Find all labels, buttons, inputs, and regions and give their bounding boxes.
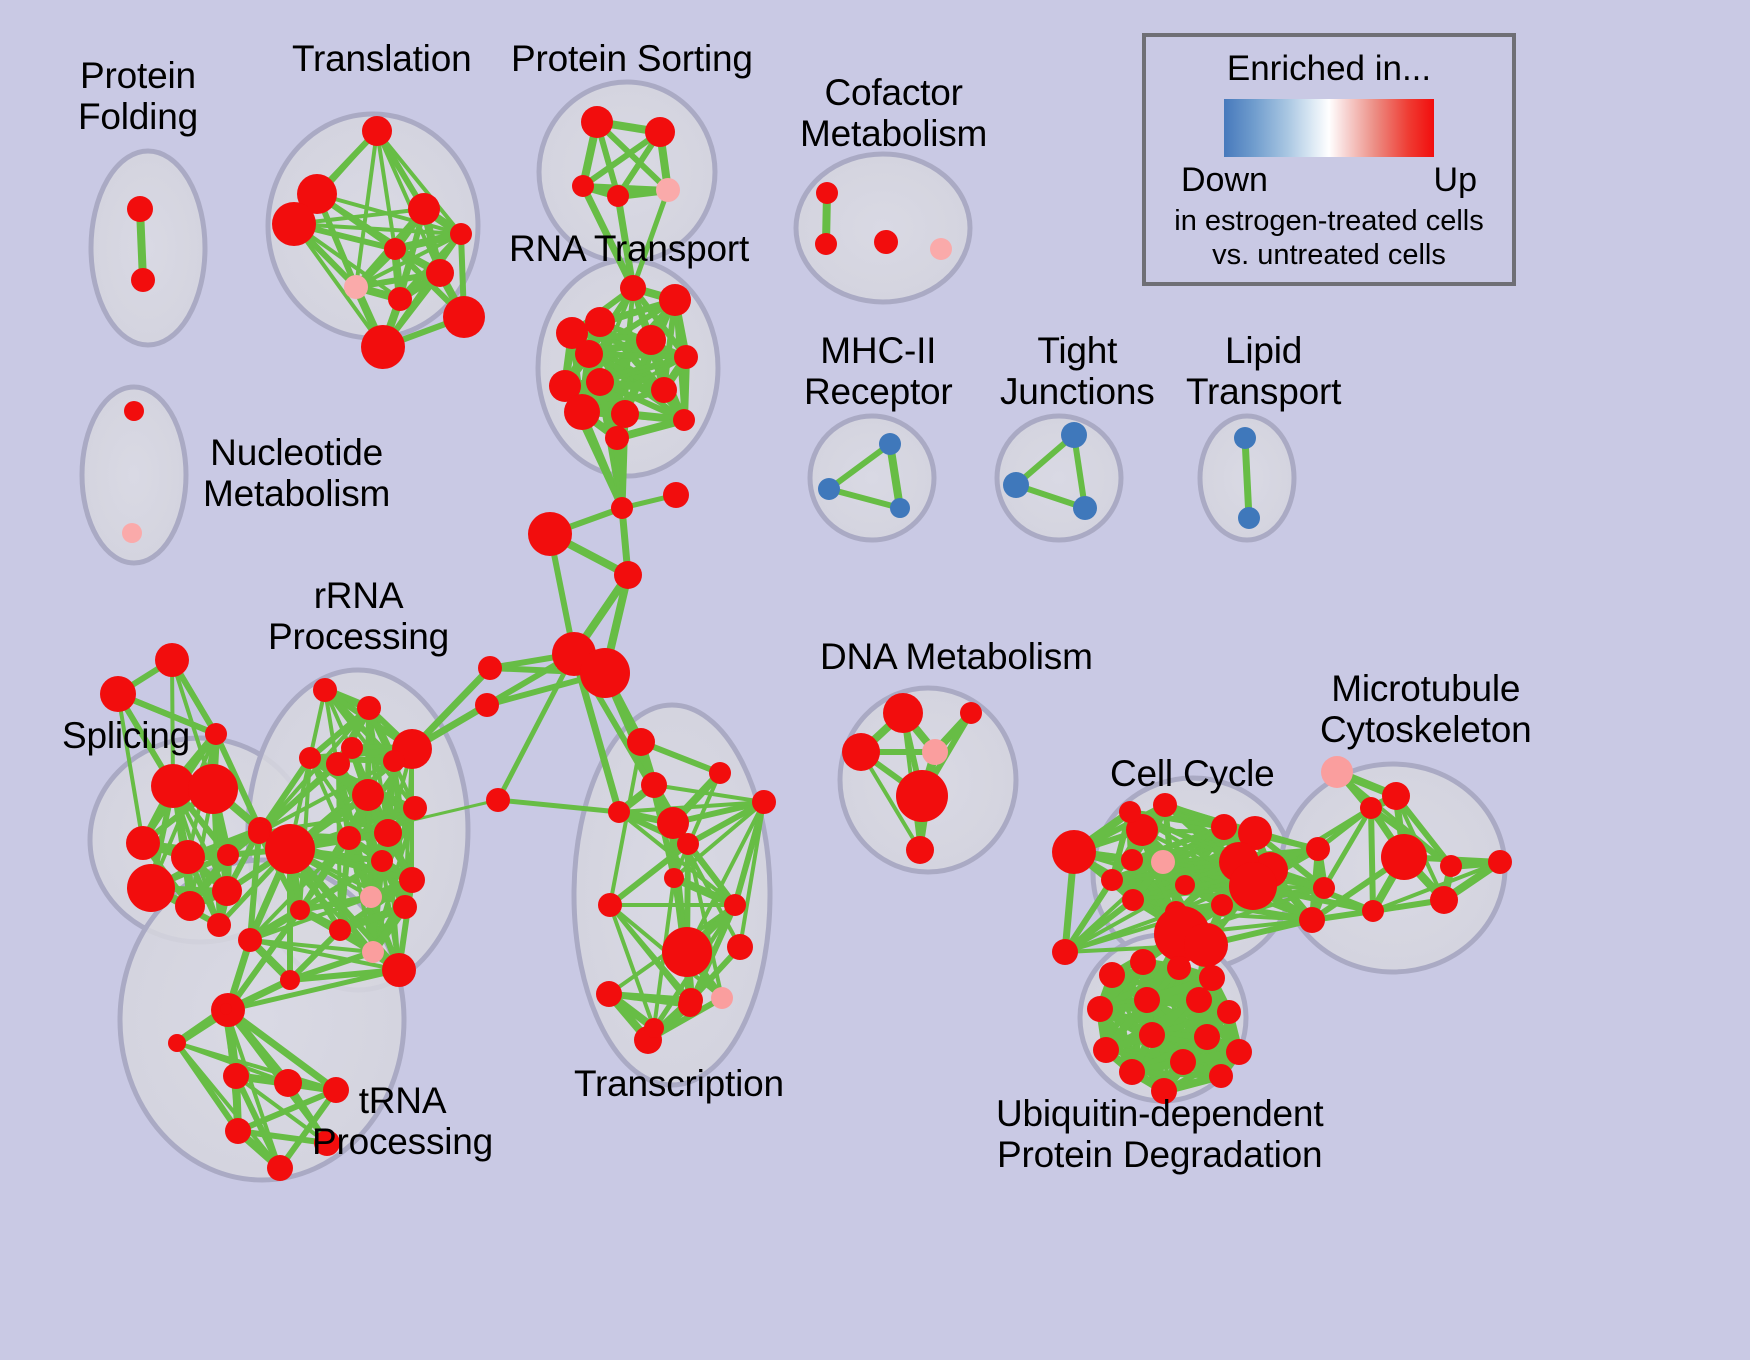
network-node[interactable] bbox=[393, 895, 417, 919]
cluster-label-trna-processing: tRNA Processing bbox=[312, 1080, 493, 1163]
network-node[interactable] bbox=[274, 1069, 302, 1097]
network-node[interactable] bbox=[659, 284, 691, 316]
network-node[interactable] bbox=[1184, 923, 1228, 967]
network-node[interactable] bbox=[724, 894, 746, 916]
network-node[interactable] bbox=[727, 934, 753, 960]
network-node[interactable] bbox=[677, 833, 699, 855]
network-node[interactable] bbox=[207, 913, 231, 937]
network-node[interactable] bbox=[124, 401, 144, 421]
network-node[interactable] bbox=[575, 340, 603, 368]
network-node[interactable] bbox=[709, 762, 731, 784]
network-node[interactable] bbox=[426, 259, 454, 287]
network-node[interactable] bbox=[564, 394, 600, 430]
network-node[interactable] bbox=[1175, 875, 1195, 895]
network-figure: Protein FoldingTranslationProtein Sortin… bbox=[0, 0, 1750, 1360]
network-node[interactable] bbox=[1151, 850, 1175, 874]
network-edge bbox=[1371, 808, 1373, 911]
network-node[interactable] bbox=[890, 498, 910, 518]
network-node[interactable] bbox=[126, 826, 160, 860]
network-node[interactable] bbox=[1488, 850, 1512, 874]
network-node[interactable] bbox=[450, 223, 472, 245]
network-node[interactable] bbox=[384, 238, 406, 260]
legend-title: Enriched in... bbox=[1227, 49, 1431, 89]
network-node[interactable] bbox=[608, 801, 630, 823]
network-node[interactable] bbox=[1199, 965, 1225, 991]
network-node[interactable] bbox=[220, 1003, 232, 1015]
network-node[interactable] bbox=[357, 696, 381, 720]
network-node[interactable] bbox=[1234, 427, 1256, 449]
network-node[interactable] bbox=[382, 953, 416, 987]
network-node[interactable] bbox=[443, 296, 485, 338]
network-node[interactable] bbox=[265, 824, 315, 874]
network-node[interactable] bbox=[818, 478, 840, 500]
network-node[interactable] bbox=[1194, 1024, 1220, 1050]
network-node[interactable] bbox=[627, 728, 655, 756]
network-node[interactable] bbox=[816, 182, 838, 204]
network-node[interactable] bbox=[280, 970, 300, 990]
cluster-label-tight-junctions: Tight Junctions bbox=[1000, 330, 1155, 413]
network-node[interactable] bbox=[1101, 869, 1123, 891]
network-node[interactable] bbox=[1321, 756, 1353, 788]
network-node[interactable] bbox=[620, 275, 646, 301]
network-node[interactable] bbox=[188, 764, 238, 814]
network-node[interactable] bbox=[362, 941, 384, 963]
network-node[interactable] bbox=[1381, 834, 1427, 880]
network-node[interactable] bbox=[383, 750, 405, 772]
network-node[interactable] bbox=[815, 233, 837, 255]
network-node[interactable] bbox=[1099, 962, 1125, 988]
network-node[interactable] bbox=[272, 202, 316, 246]
network-node[interactable] bbox=[1430, 886, 1458, 914]
network-node[interactable] bbox=[679, 988, 703, 1012]
network-node[interactable] bbox=[478, 656, 502, 680]
network-node[interactable] bbox=[168, 1034, 186, 1052]
network-node[interactable] bbox=[1121, 849, 1143, 871]
cluster-label-lipid-transport: Lipid Transport bbox=[1186, 330, 1341, 413]
cluster-ellipse-protein-folding bbox=[91, 151, 205, 345]
network-node[interactable] bbox=[663, 482, 689, 508]
network-node[interactable] bbox=[596, 981, 622, 1007]
network-edge bbox=[1245, 438, 1249, 518]
network-node[interactable] bbox=[403, 796, 427, 820]
cluster-label-protein-folding: Protein Folding bbox=[78, 55, 198, 138]
network-node[interactable] bbox=[1061, 422, 1087, 448]
network-node[interactable] bbox=[842, 733, 880, 771]
network-node[interactable] bbox=[1229, 862, 1277, 910]
network-node[interactable] bbox=[175, 891, 205, 921]
network-node[interactable] bbox=[645, 117, 675, 147]
cluster-ellipse-cofactor-metabolism bbox=[796, 154, 970, 302]
network-node[interactable] bbox=[1238, 507, 1260, 529]
network-node[interactable] bbox=[352, 779, 384, 811]
network-node[interactable] bbox=[879, 433, 901, 455]
cluster-label-translation: Translation bbox=[292, 38, 471, 79]
network-node[interactable] bbox=[1382, 782, 1410, 810]
network-node[interactable] bbox=[326, 752, 350, 776]
network-node[interactable] bbox=[930, 238, 952, 260]
network-node[interactable] bbox=[1087, 996, 1113, 1022]
legend-subtitle-line2: vs. untreated cells bbox=[1174, 238, 1484, 272]
network-node[interactable] bbox=[1119, 1059, 1145, 1085]
network-node[interactable] bbox=[1153, 793, 1177, 817]
network-node[interactable] bbox=[374, 819, 402, 847]
network-node[interactable] bbox=[896, 770, 948, 822]
network-node[interactable] bbox=[248, 822, 270, 844]
network-node[interactable] bbox=[673, 409, 695, 431]
network-node[interactable] bbox=[572, 175, 594, 197]
network-node[interactable] bbox=[371, 850, 393, 872]
network-node[interactable] bbox=[1134, 987, 1160, 1013]
network-node[interactable] bbox=[212, 876, 242, 906]
network-node[interactable] bbox=[337, 826, 361, 850]
network-node[interactable] bbox=[1093, 1037, 1119, 1063]
network-node[interactable] bbox=[1211, 814, 1237, 840]
network-node[interactable] bbox=[874, 230, 898, 254]
network-node[interactable] bbox=[607, 185, 629, 207]
cluster-label-splicing: Splicing bbox=[62, 715, 190, 756]
network-node[interactable] bbox=[1209, 1064, 1233, 1088]
network-node[interactable] bbox=[361, 325, 405, 369]
network-node[interactable] bbox=[906, 836, 934, 864]
network-node[interactable] bbox=[960, 702, 982, 724]
network-node[interactable] bbox=[711, 987, 733, 1009]
network-node[interactable] bbox=[362, 116, 392, 146]
cluster-label-cofactor-metabolism: Cofactor Metabolism bbox=[800, 72, 987, 155]
network-node[interactable] bbox=[605, 426, 629, 450]
network-node[interactable] bbox=[217, 844, 239, 866]
network-node[interactable] bbox=[656, 178, 680, 202]
network-node[interactable] bbox=[360, 886, 382, 908]
network-node[interactable] bbox=[752, 790, 776, 814]
cluster-label-nucleotide-metabolism: Nucleotide Metabolism bbox=[203, 432, 390, 515]
legend-panel: Enriched in... Down Up in estrogen-treat… bbox=[1142, 33, 1516, 286]
network-node[interactable] bbox=[1360, 797, 1382, 819]
network-node[interactable] bbox=[1003, 472, 1029, 498]
network-node[interactable] bbox=[585, 307, 615, 337]
network-node[interactable] bbox=[1170, 1049, 1196, 1075]
network-node[interactable] bbox=[223, 1063, 249, 1089]
network-node[interactable] bbox=[122, 523, 142, 543]
network-node[interactable] bbox=[614, 561, 642, 589]
network-node[interactable] bbox=[581, 106, 613, 138]
network-node[interactable] bbox=[238, 928, 262, 952]
network-node[interactable] bbox=[922, 739, 948, 765]
network-node[interactable] bbox=[388, 287, 412, 311]
network-node[interactable] bbox=[636, 325, 666, 355]
network-node[interactable] bbox=[155, 643, 189, 677]
cluster-label-protein-sorting: Protein Sorting bbox=[511, 38, 753, 79]
network-node[interactable] bbox=[644, 1018, 664, 1038]
network-node[interactable] bbox=[1306, 837, 1330, 861]
network-node[interactable] bbox=[598, 893, 622, 917]
network-node[interactable] bbox=[611, 400, 639, 428]
network-node[interactable] bbox=[267, 1155, 293, 1181]
network-node[interactable] bbox=[1313, 877, 1335, 899]
network-node[interactable] bbox=[299, 747, 321, 769]
legend-subtitle-line1: in estrogen-treated cells bbox=[1174, 204, 1484, 238]
network-node[interactable] bbox=[127, 196, 153, 222]
network-node[interactable] bbox=[1217, 1000, 1241, 1024]
network-node[interactable] bbox=[486, 788, 510, 812]
network-node[interactable] bbox=[528, 512, 572, 556]
network-node[interactable] bbox=[475, 693, 499, 717]
network-node[interactable] bbox=[1130, 949, 1156, 975]
cluster-label-mhc-ii-receptor: MHC-II Receptor bbox=[804, 330, 953, 413]
cluster-label-dna-metabolism: DNA Metabolism bbox=[820, 636, 1093, 677]
network-node[interactable] bbox=[1073, 496, 1097, 520]
network-node[interactable] bbox=[100, 676, 136, 712]
cluster-label-rna-transport: RNA Transport bbox=[509, 228, 749, 269]
cluster-label-cell-cycle: Cell Cycle bbox=[1110, 753, 1275, 794]
network-node[interactable] bbox=[1052, 830, 1096, 874]
network-node[interactable] bbox=[1139, 1022, 1165, 1048]
network-node[interactable] bbox=[399, 867, 425, 893]
network-edge bbox=[589, 354, 686, 357]
network-node[interactable] bbox=[1119, 801, 1141, 823]
network-node[interactable] bbox=[408, 193, 440, 225]
network-node[interactable] bbox=[1226, 1039, 1252, 1065]
network-node[interactable] bbox=[313, 678, 337, 702]
cluster-label-ubiquitin-protein-degradation: Ubiquitin-dependent Protein Degradation bbox=[996, 1093, 1323, 1176]
network-node[interactable] bbox=[1186, 987, 1212, 1013]
network-node[interactable] bbox=[674, 345, 698, 369]
legend-low-label: Down bbox=[1181, 161, 1268, 200]
cluster-label-transcription: Transcription bbox=[574, 1063, 784, 1104]
network-node[interactable] bbox=[1167, 956, 1191, 980]
network-node[interactable] bbox=[171, 840, 205, 874]
network-node[interactable] bbox=[344, 275, 368, 299]
network-node[interactable] bbox=[1211, 894, 1233, 916]
network-node[interactable] bbox=[1299, 907, 1325, 933]
network-node[interactable] bbox=[611, 497, 633, 519]
network-node[interactable] bbox=[883, 693, 923, 733]
network-node[interactable] bbox=[1122, 889, 1144, 911]
network-node[interactable] bbox=[290, 900, 310, 920]
network-node[interactable] bbox=[225, 1118, 251, 1144]
cluster-ellipse-mhc-ii-receptor bbox=[810, 416, 934, 540]
network-node[interactable] bbox=[131, 268, 155, 292]
network-node[interactable] bbox=[205, 723, 227, 745]
network-node[interactable] bbox=[586, 368, 614, 396]
cluster-label-microtubule-cytoskeleton: Microtubule Cytoskeleton bbox=[1320, 668, 1532, 751]
network-node[interactable] bbox=[1052, 939, 1078, 965]
legend-color-bar bbox=[1224, 99, 1434, 157]
network-node[interactable] bbox=[329, 919, 351, 941]
network-node[interactable] bbox=[1440, 855, 1462, 877]
network-node[interactable] bbox=[664, 868, 684, 888]
network-node[interactable] bbox=[127, 864, 175, 912]
network-node[interactable] bbox=[651, 377, 677, 403]
legend-high-label: Up bbox=[1434, 161, 1477, 200]
network-node[interactable] bbox=[662, 927, 712, 977]
network-node[interactable] bbox=[641, 772, 667, 798]
network-node[interactable] bbox=[580, 648, 630, 698]
network-node[interactable] bbox=[1362, 900, 1384, 922]
cluster-label-rrna-processing: rRNA Processing bbox=[268, 575, 449, 658]
